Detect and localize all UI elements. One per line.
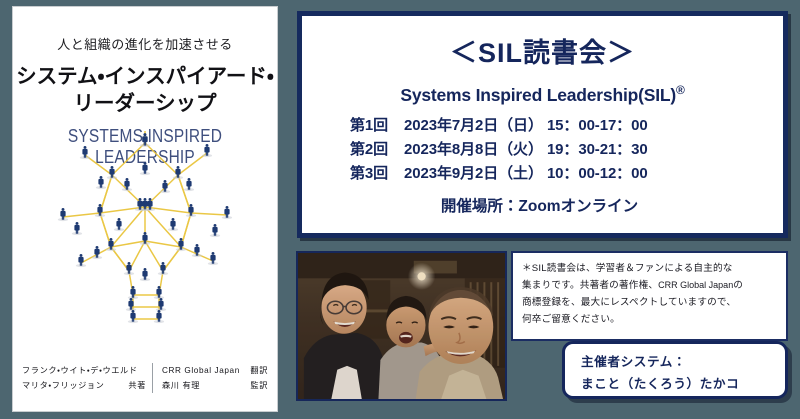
- disclaimer-line-2: 集まりです。共著者の著作権、CRR Global Japanの: [522, 277, 778, 294]
- event-title: ＜SIL読書会＞: [302, 31, 783, 70]
- book-cover-title-japanese: システム・インスパイアード・ リーダーシップ: [13, 63, 277, 117]
- translator-name: 森川 有理: [162, 378, 200, 393]
- author-name: フランク・ウイト・デ・ウエルド: [22, 363, 138, 378]
- disclaimer-line-4: 何卒ご留意ください。: [522, 311, 778, 328]
- disclaimer-line-2c: の: [733, 280, 743, 291]
- session-time: 10：00-12：00: [547, 165, 648, 182]
- session-date: 2023年8月8日（火）: [404, 138, 543, 162]
- translator-role: 監訳: [250, 378, 268, 393]
- session-row: 第3回2023年9月2日（土） 10：00-12：00: [350, 162, 783, 186]
- credit-row: マリタ・フリッジョン 共著: [22, 378, 146, 393]
- author-role: 共著: [128, 378, 146, 393]
- disclaimer-note: ＊SIL読書会は、学習者＆ファンによる自主的な 集まりです。共著者の著作権、CR…: [511, 251, 788, 341]
- book-cover-title-line1: システム・インスパイアード・: [13, 63, 277, 90]
- credit-row: フランク・ウイト・デ・ウエルド: [22, 363, 146, 378]
- translator-name: CRR Global Japan: [162, 363, 240, 378]
- disclaimer-line-3: 商標登録を、最大にレスペクトしていますので、: [522, 294, 778, 311]
- author-name: マリタ・フリッジョン: [22, 378, 104, 393]
- lightbulb-network-icon: [41, 129, 251, 351]
- session-ordinal: 第3回: [350, 162, 404, 186]
- credit-row: CRR Global Japan 翻訳: [162, 363, 268, 378]
- session-date: 2023年9月2日（土）: [404, 162, 543, 186]
- event-subtitle: Systems Inspired Leadership(SIL)®: [302, 83, 783, 106]
- book-cover-title-line2: リーダーシップ: [13, 90, 277, 117]
- event-announcement-panel: ＜SIL読書会＞ Systems Inspired Leadership(SIL…: [297, 11, 788, 238]
- credit-row: 森川 有理 監訳: [162, 378, 268, 393]
- disclaimer-line-1: ＊SIL読書会は、学習者＆ファンによる自主的な: [522, 260, 778, 277]
- session-time: 15：00-17：00: [547, 117, 648, 134]
- organizer-label: 主催者システム：: [581, 352, 785, 374]
- session-ordinal: 第1回: [350, 114, 404, 138]
- session-row: 第1回2023年7月2日（日） 15：00-17：00: [350, 114, 783, 138]
- disclaimer-org-name: CRR Global Japan: [658, 280, 733, 290]
- disclaimer-line-2a: 集まりです。共著者の著作権、: [522, 280, 658, 291]
- book-cover-authors: フランク・ウイト・デ・ウエルド マリタ・フリッジョン 共著: [22, 363, 153, 393]
- translator-role: 翻訳: [250, 363, 268, 378]
- session-time: 19：30-21：30: [547, 141, 648, 158]
- session-row: 第2回2023年8月8日（火） 19：30-21：30: [350, 138, 783, 162]
- registered-trademark-icon: ®: [676, 83, 685, 97]
- book-cover-tagline: 人と組織の進化を加速させる: [13, 34, 277, 53]
- organizer-callout: 主催者システム： まこと（たくろう）たかコ: [562, 341, 788, 399]
- book-cover-credits: フランク・ウイト・デ・ウエルド マリタ・フリッジョン 共著 CRR Global…: [13, 363, 277, 393]
- session-date: 2023年7月2日（日）: [404, 114, 543, 138]
- group-photo-three-men: [296, 251, 507, 401]
- book-cover: 人と組織の進化を加速させる システム・インスパイアード・ リーダーシップ SYS…: [12, 6, 278, 412]
- event-subtitle-text: Systems Inspired Leadership(SIL): [400, 85, 676, 105]
- organizer-names: まこと（たくろう）たかコ: [581, 374, 785, 396]
- book-cover-translators: CRR Global Japan 翻訳 森川 有理 監訳: [153, 363, 268, 393]
- session-ordinal: 第2回: [350, 138, 404, 162]
- event-venue: 開催場所：Zoomオンライン: [302, 194, 783, 216]
- session-list: 第1回2023年7月2日（日） 15：00-17：00 第2回2023年8月8日…: [302, 114, 783, 187]
